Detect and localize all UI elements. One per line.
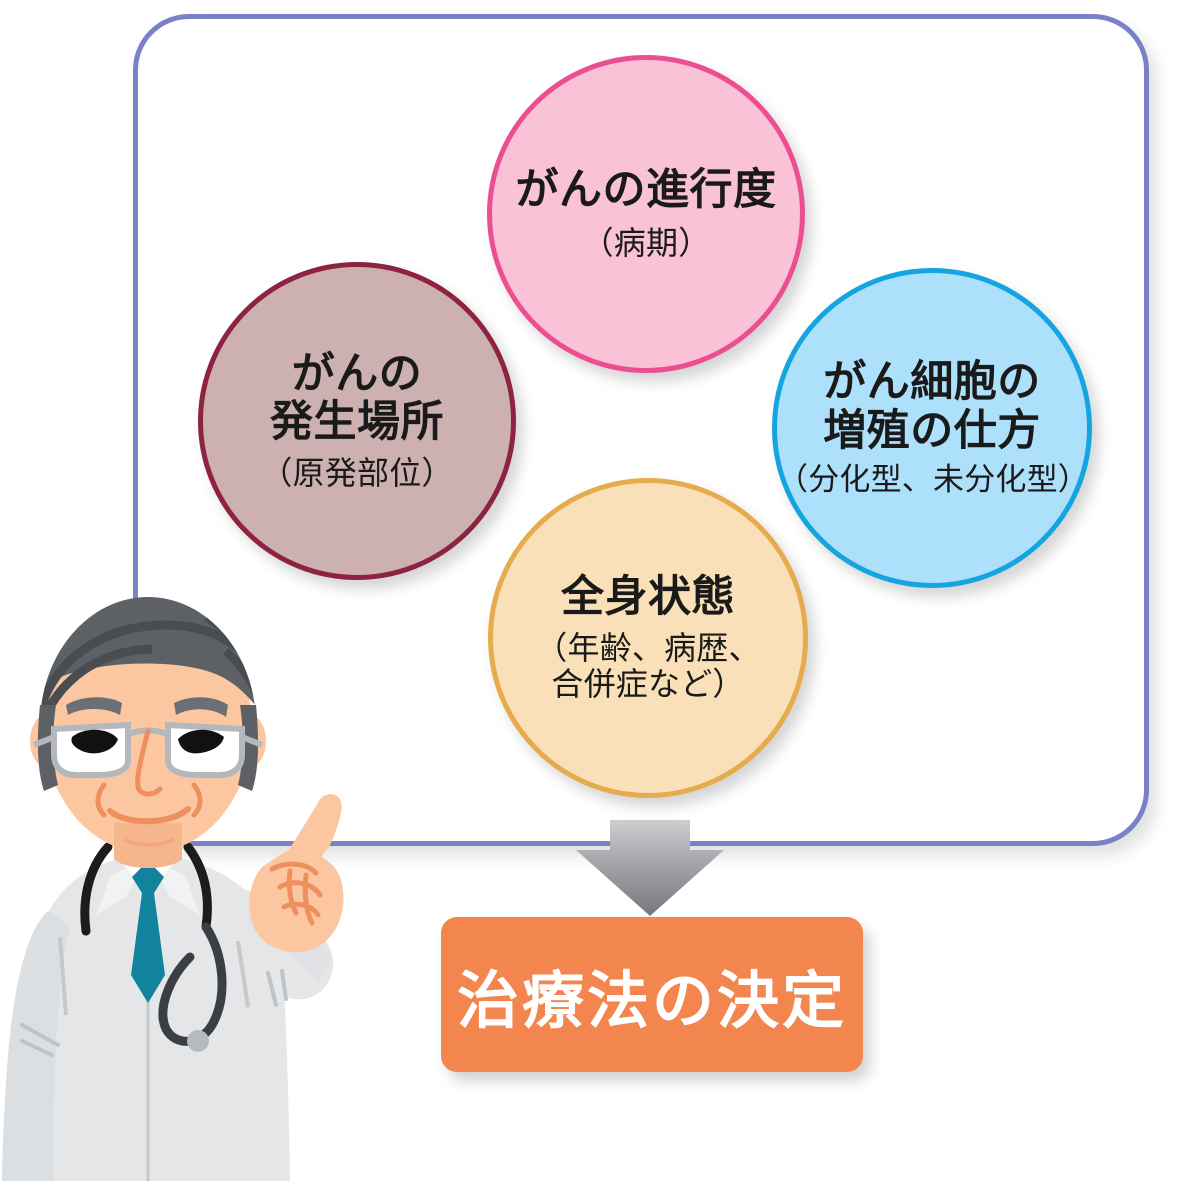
factor-label-main: 全身状態 xyxy=(561,573,735,621)
diagram-canvas: がんの進行度 （病期） がんの 発生場所 （原発部位） がん細胞の 増殖の仕方 … xyxy=(0,0,1200,1181)
result-box-treatment-decision[interactable]: 治療法の決定 xyxy=(441,917,863,1072)
factor-label-sub: （原発部位） xyxy=(260,456,453,492)
factor-label-main: がんの 発生場所 xyxy=(270,350,444,446)
factor-circle-general-condition[interactable]: 全身状態 （年齢、病歴、 合併症など） xyxy=(488,478,808,798)
factor-label-sub: （病期） xyxy=(582,226,711,262)
factor-label-main: がんの進行度 xyxy=(516,166,777,214)
factor-circle-cancer-stage[interactable]: がんの進行度 （病期） xyxy=(487,55,805,373)
factor-circle-cell-growth[interactable]: がん細胞の 増殖の仕方 （分化型、未分化型） xyxy=(772,268,1092,588)
factor-label-sub: （年齢、病歴、 合併症など） xyxy=(535,631,760,703)
doctor-head xyxy=(24,583,272,868)
pointing-hand xyxy=(249,794,343,952)
factor-label-sub: （分化型、未分化型） xyxy=(777,463,1087,498)
factor-circle-primary-site[interactable]: がんの 発生場所 （原発部位） xyxy=(198,262,516,580)
doctor-pointing-illustration xyxy=(0,555,420,1181)
down-arrow-icon xyxy=(576,820,724,916)
factor-label-main: がん細胞の 増殖の仕方 xyxy=(823,358,1041,454)
result-label: 治療法の決定 xyxy=(457,950,847,1040)
